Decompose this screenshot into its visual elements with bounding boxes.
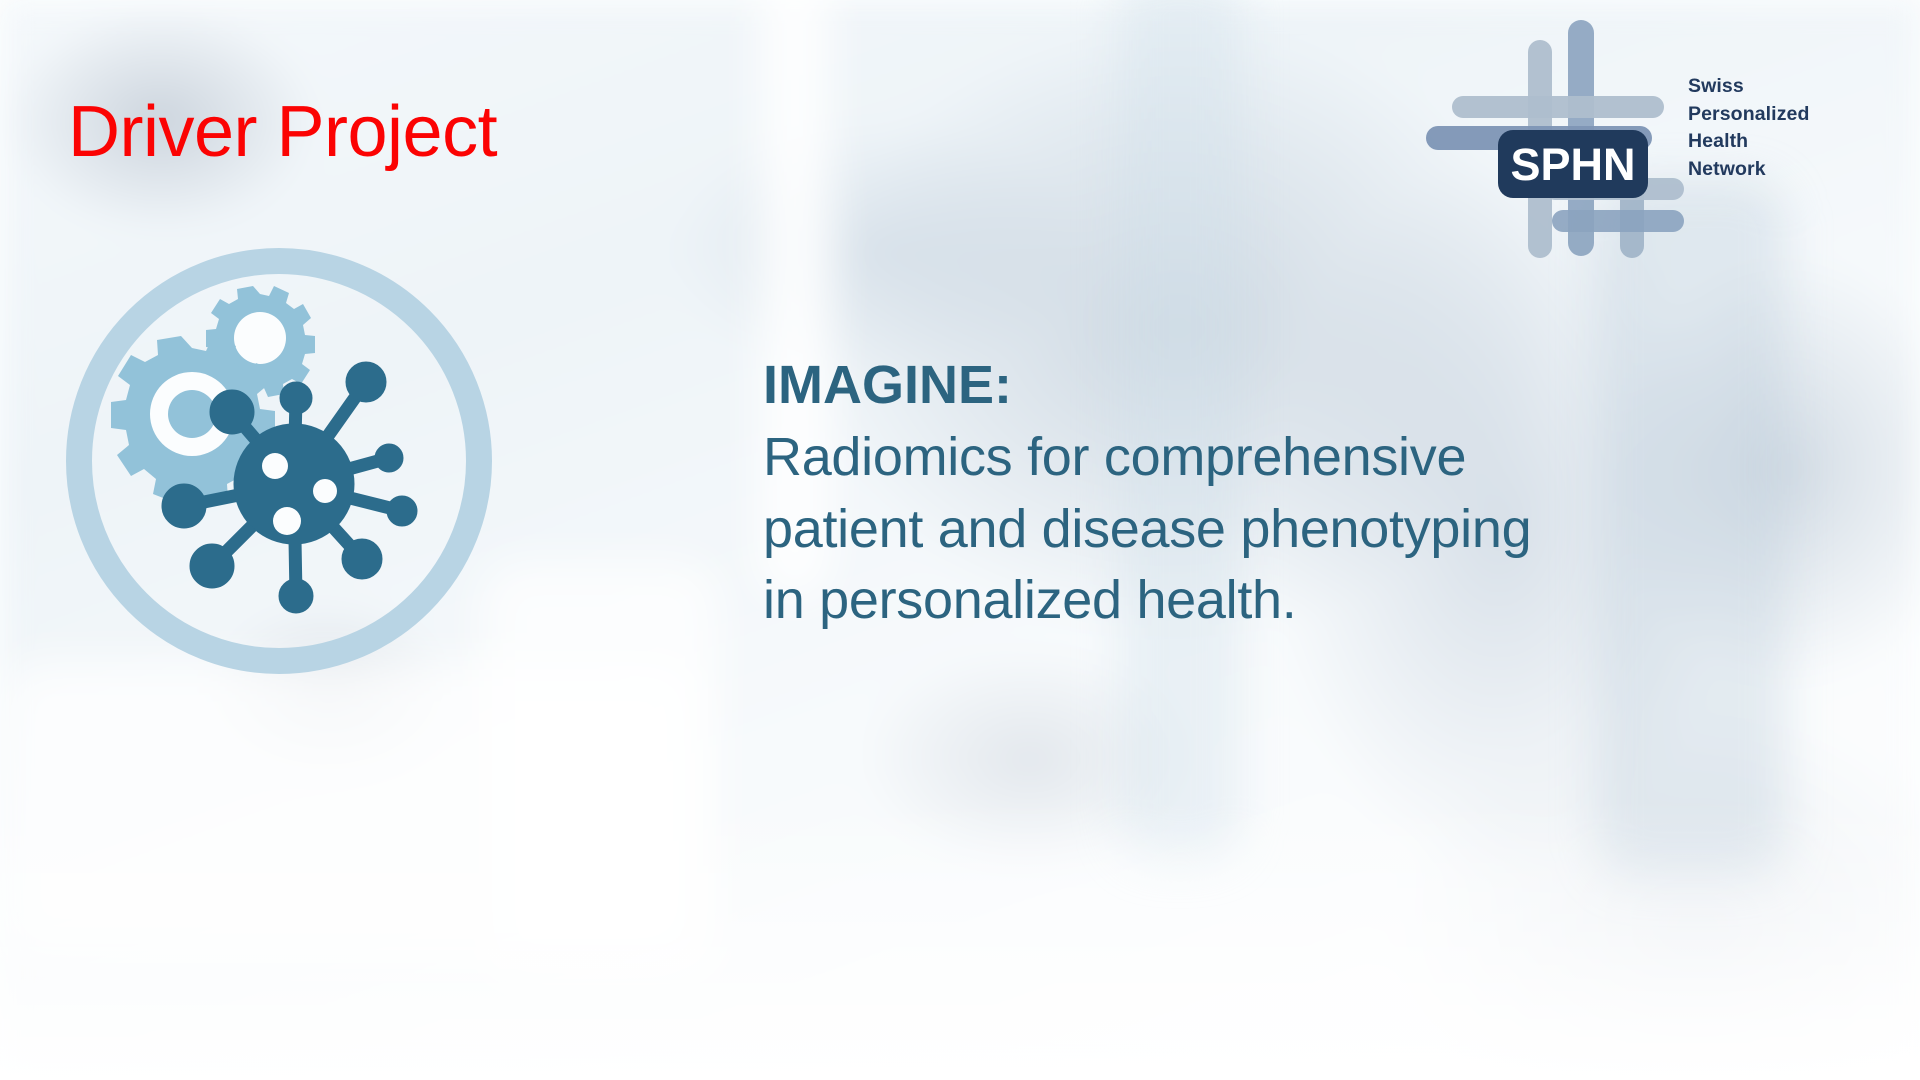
- headline-line-2: patient and disease phenotyping: [763, 494, 1853, 566]
- headline-line-3: in personalized health.: [763, 565, 1853, 637]
- driver-project-label: Driver Project: [68, 96, 497, 168]
- gears-and-molecule-icon: [44, 226, 514, 696]
- sphn-wordmark: Swiss Personalized Health Network: [1688, 73, 1810, 184]
- footer-bar: A project of SAMWASSM Schweizerische Aka…: [0, 900, 1920, 1080]
- sphn-bar-horizontal: [1552, 210, 1684, 232]
- sphn-wordmark-line-1: Swiss: [1688, 73, 1810, 101]
- headline-block: IMAGINE: Radiomics for comprehensive pat…: [763, 350, 1853, 637]
- sphn-wordmark-line-3: Health: [1688, 128, 1810, 156]
- sphn-badge-text: SPHN: [1510, 139, 1635, 190]
- slide-canvas: Driver Project: [0, 0, 1920, 1080]
- sphn-wordmark-line-2: Personalized: [1688, 101, 1810, 129]
- headline-kicker: IMAGINE:: [763, 350, 1853, 422]
- sphn-wordmark-line-4: Network: [1688, 156, 1810, 184]
- sphn-logo-mark: SPHN: [1424, 18, 1684, 258]
- sphn-bar-horizontal: [1452, 96, 1664, 118]
- sphn-logo: SPHN Swiss Personalized Health Network: [1424, 18, 1844, 258]
- headline-line-1: Radiomics for comprehensive: [763, 422, 1853, 494]
